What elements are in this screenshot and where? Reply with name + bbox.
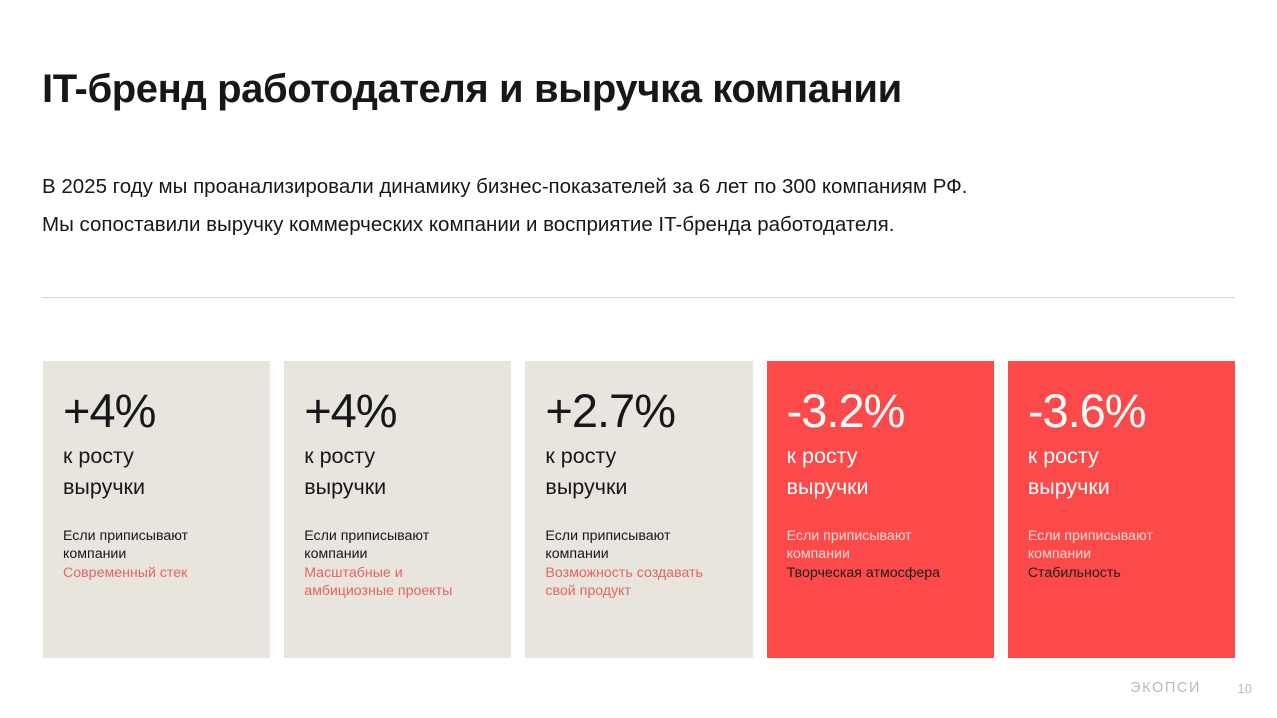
stat-card-5: -3.6% к росту выручки Если приписывают к… [1008, 361, 1235, 658]
stat-caption-line-2: выручки [787, 472, 974, 503]
stat-caption-line-1: к росту [545, 441, 732, 472]
stat-caption: к росту выручки [1028, 441, 1215, 503]
stat-caption: к росту выручки [787, 441, 974, 503]
stat-caption-line-2: выручки [63, 472, 250, 503]
stat-note: Если приписывают компании [63, 527, 250, 564]
stat-card-3: +2.7% к росту выручки Если приписывают к… [525, 361, 752, 658]
stat-caption-line-2: выручки [304, 472, 491, 503]
stat-attribute: Творческая атмосфера [787, 564, 974, 582]
stat-note: Если приписывают компании [304, 527, 491, 564]
stat-caption: к росту выручки [63, 441, 250, 503]
stat-card-2: +4% к росту выручки Если приписывают ком… [284, 361, 511, 658]
stat-card-1: +4% к росту выручки Если приписывают ком… [43, 361, 270, 658]
stat-caption-line-1: к росту [63, 441, 250, 472]
stat-note-line-1: Если приписывают [545, 527, 732, 545]
stat-value: +2.7% [545, 383, 732, 439]
stat-card-row: +4% к росту выручки Если приписывают ком… [43, 361, 1235, 658]
stat-attribute: Возможность создавать свой продукт [545, 564, 732, 601]
stat-note-line-2: компании [787, 545, 974, 563]
stat-caption-line-1: к росту [304, 441, 491, 472]
stat-note-line-2: компании [304, 545, 491, 563]
intro-paragraph: В 2025 году мы проанализировали динамику… [42, 168, 1242, 244]
stat-note-line-1: Если приписывают [787, 527, 974, 545]
stat-caption: к росту выручки [545, 441, 732, 503]
stat-caption: к росту выручки [304, 441, 491, 503]
page-title: IT-бренд работодателя и выручка компании [42, 65, 1202, 113]
section-divider [42, 297, 1235, 298]
slide-canvas: IT-бренд работодателя и выручка компании… [0, 0, 1277, 718]
stat-caption-line-1: к росту [1028, 441, 1215, 472]
intro-line-1: В 2025 году мы проанализировали динамику… [42, 168, 1242, 206]
stat-note: Если приписывают компании [545, 527, 732, 564]
stat-note-line-1: Если приписывают [63, 527, 250, 545]
stat-attribute: Современный стек [63, 564, 250, 582]
stat-note-line-1: Если приписывают [304, 527, 491, 545]
stat-note-line-2: компании [1028, 545, 1215, 563]
intro-line-2: Мы сопоставили выручку коммерческих комп… [42, 206, 1242, 244]
stat-value: +4% [304, 383, 491, 439]
brand-logo: ЭКОПСИ [1130, 680, 1201, 696]
stat-caption-line-2: выручки [545, 472, 732, 503]
stat-note-line-1: Если приписывают [1028, 527, 1215, 545]
stat-attribute: Масштабные и амбициозные проекты [304, 564, 491, 601]
stat-caption-line-1: к росту [787, 441, 974, 472]
stat-attribute: Стабильность [1028, 564, 1215, 582]
stat-value: +4% [63, 383, 250, 439]
stat-note-line-2: компании [63, 545, 250, 563]
stat-note: Если приписывают компании [1028, 527, 1215, 564]
stat-value: -3.6% [1028, 383, 1215, 439]
stat-caption-line-2: выручки [1028, 472, 1215, 503]
stat-note: Если приписывают компании [787, 527, 974, 564]
stat-value: -3.2% [787, 383, 974, 439]
stat-note-line-2: компании [545, 545, 732, 563]
page-number: 10 [1238, 681, 1252, 696]
stat-card-4: -3.2% к росту выручки Если приписывают к… [767, 361, 994, 658]
